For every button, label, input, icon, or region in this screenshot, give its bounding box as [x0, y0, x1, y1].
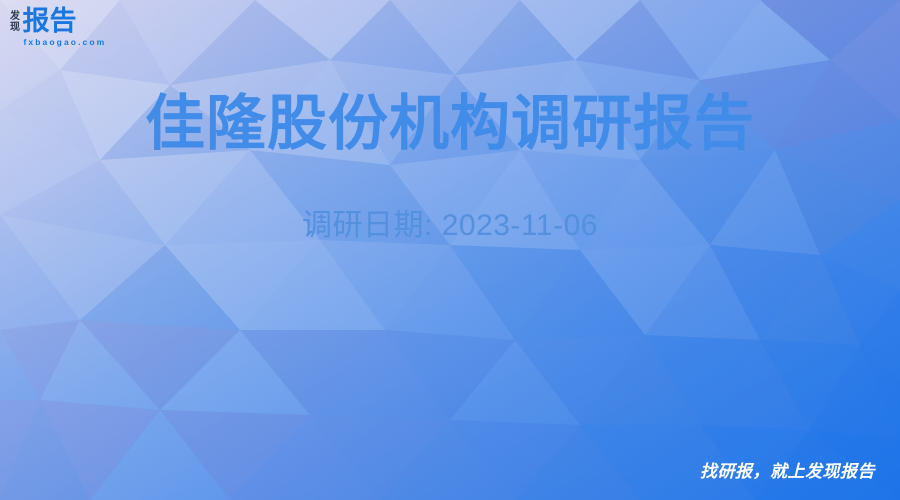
logo-stacked-characters: 发 现	[10, 8, 20, 33]
logo-url: fxbaogao.com	[24, 37, 107, 47]
polygon-background	[0, 0, 900, 500]
logo-char-fa: 发	[10, 11, 20, 22]
cover-slide: 发 现 报告 fxbaogao.com 佳隆股份机构调研报告 调研日期: 202…	[0, 0, 900, 500]
footer-tagline: 找研报，就上发现报告	[700, 462, 875, 482]
logo-main: 报告 fxbaogao.com	[23, 8, 107, 47]
logo-char-xian: 现	[10, 22, 20, 33]
brand-logo[interactable]: 发 现 报告 fxbaogao.com	[10, 8, 106, 47]
logo-wordmark: 报告	[23, 8, 107, 35]
